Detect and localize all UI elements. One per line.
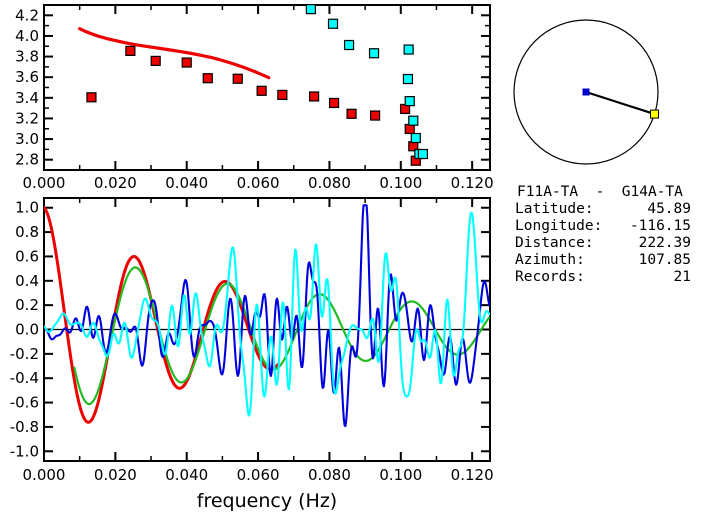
data-point-marker bbox=[345, 41, 354, 50]
y-tick-label: 2.8 bbox=[15, 151, 39, 169]
y-tick-label: -0.8 bbox=[10, 418, 39, 436]
x-tick-label: 0.040 bbox=[165, 466, 208, 484]
map-inset-container bbox=[505, 0, 702, 180]
data-point-marker bbox=[257, 86, 266, 95]
x-tick-label: 0.080 bbox=[308, 174, 351, 192]
data-point-marker bbox=[151, 56, 160, 65]
dispersion-plot-frame bbox=[44, 5, 490, 170]
x-tick-label: 0.080 bbox=[308, 466, 351, 484]
info-row-distance: Distance:222.39 bbox=[515, 235, 691, 251]
crosscorrelation-plot: 0.0000.0200.0400.0600.0800.1000.120-1.0-… bbox=[0, 193, 500, 520]
data-point-marker bbox=[330, 98, 339, 107]
remote-station-marker bbox=[651, 110, 659, 118]
dispersion-plot-container: 0.0000.0200.0400.0600.0800.1000.1202.83.… bbox=[0, 0, 500, 195]
station-path-line bbox=[586, 92, 655, 114]
info-row-latitude: Latitude:45.89 bbox=[515, 201, 691, 217]
info-panel: F11A-TA - G14A-TALatitude:45.89Longitude… bbox=[505, 182, 702, 302]
center-station-marker bbox=[583, 89, 590, 96]
data-point-marker bbox=[278, 90, 287, 99]
y-tick-label: 4.2 bbox=[15, 6, 39, 24]
y-tick-label: 1.0 bbox=[15, 199, 39, 217]
y-tick-label: -0.6 bbox=[10, 394, 39, 412]
y-tick-label: 0.2 bbox=[15, 296, 39, 314]
data-point-marker bbox=[418, 150, 427, 159]
info-row-azimuth: Azimuth:107.85 bbox=[515, 252, 691, 268]
y-tick-label: 0.4 bbox=[15, 272, 39, 290]
x-tick-label: 0.020 bbox=[94, 466, 137, 484]
data-point-marker bbox=[370, 49, 379, 58]
waveform-layer bbox=[44, 205, 490, 426]
y-tick-label: -0.4 bbox=[10, 369, 39, 387]
info-row-value: 45.89 bbox=[647, 201, 691, 217]
info-row-label: Records: bbox=[515, 269, 585, 285]
data-point-marker bbox=[404, 45, 413, 54]
data-point-marker bbox=[405, 97, 414, 106]
x-tick-label: 0.000 bbox=[23, 174, 66, 192]
dispersion-data-layer bbox=[80, 5, 428, 166]
info-panel-text: F11A-TA - G14A-TALatitude:45.89Longitude… bbox=[505, 182, 702, 302]
x-tick-label: 0.060 bbox=[237, 174, 280, 192]
data-point-marker bbox=[126, 46, 135, 55]
x-tick-label: 0.060 bbox=[237, 466, 280, 484]
data-point-marker bbox=[203, 74, 212, 83]
x-tick-label: 0.020 bbox=[94, 174, 137, 192]
y-tick-label: 3.0 bbox=[15, 130, 39, 148]
info-row-value: -116.15 bbox=[630, 218, 691, 234]
x-axis-title: frequency (Hz) bbox=[197, 490, 337, 512]
x-tick-label: 0.100 bbox=[379, 174, 422, 192]
data-point-marker bbox=[403, 75, 412, 84]
blue-stacked-crosscorrelation bbox=[44, 205, 490, 426]
y-tick-label: 3.8 bbox=[15, 48, 39, 66]
data-point-marker bbox=[411, 134, 420, 143]
y-tick-label: 0.8 bbox=[15, 223, 39, 241]
info-row-label: Longitude: bbox=[515, 218, 602, 234]
info-row-value: 21 bbox=[674, 269, 691, 285]
data-point-marker bbox=[329, 19, 338, 28]
x-tick-label: 0.040 bbox=[165, 174, 208, 192]
info-row-value: 107.85 bbox=[639, 252, 691, 268]
y-tick-label: -1.0 bbox=[10, 442, 39, 460]
data-point-marker bbox=[306, 5, 315, 14]
x-tick-label: 0.000 bbox=[23, 466, 66, 484]
x-tick-label: 0.120 bbox=[451, 466, 494, 484]
data-point-marker bbox=[371, 111, 380, 120]
info-row-label: Latitude: bbox=[515, 201, 594, 217]
y-tick-label: 0.6 bbox=[15, 247, 39, 265]
dispersion-plot: 0.0000.0200.0400.0600.0800.1000.1202.83.… bbox=[0, 0, 500, 195]
info-row-label: Distance: bbox=[515, 235, 594, 251]
data-point-marker bbox=[409, 116, 418, 125]
data-point-marker bbox=[87, 93, 96, 102]
y-tick-label: 0.0 bbox=[15, 321, 39, 339]
figure-canvas: 0.0000.0200.0400.0600.0800.1000.1202.83.… bbox=[0, 0, 702, 520]
y-tick-label: 3.4 bbox=[15, 89, 39, 107]
x-tick-label: 0.120 bbox=[451, 174, 494, 192]
azimuth-circle-diagram bbox=[505, 0, 702, 180]
data-point-marker bbox=[182, 58, 191, 67]
station-pair-label: F11A-TA - G14A-TA bbox=[517, 184, 683, 200]
y-tick-label: -0.2 bbox=[10, 345, 39, 363]
dispersion-reference-curve bbox=[80, 29, 269, 78]
info-row-records: Records:21 bbox=[515, 269, 691, 285]
crosscorrelation-plot-container: 0.0000.0200.0400.0600.0800.1000.120-1.0-… bbox=[0, 193, 500, 520]
y-tick-label: 3.2 bbox=[15, 109, 39, 127]
x-tick-label: 0.100 bbox=[379, 466, 422, 484]
y-tick-label: 4.0 bbox=[15, 27, 39, 45]
data-point-marker bbox=[310, 92, 319, 101]
data-point-marker bbox=[233, 74, 242, 83]
y-tick-label: 3.6 bbox=[15, 68, 39, 86]
info-row-longitude: Longitude:-116.15 bbox=[515, 218, 691, 234]
info-row-value: 222.39 bbox=[639, 235, 691, 251]
info-row-label: Azimuth: bbox=[515, 252, 585, 268]
data-point-marker bbox=[347, 109, 356, 118]
